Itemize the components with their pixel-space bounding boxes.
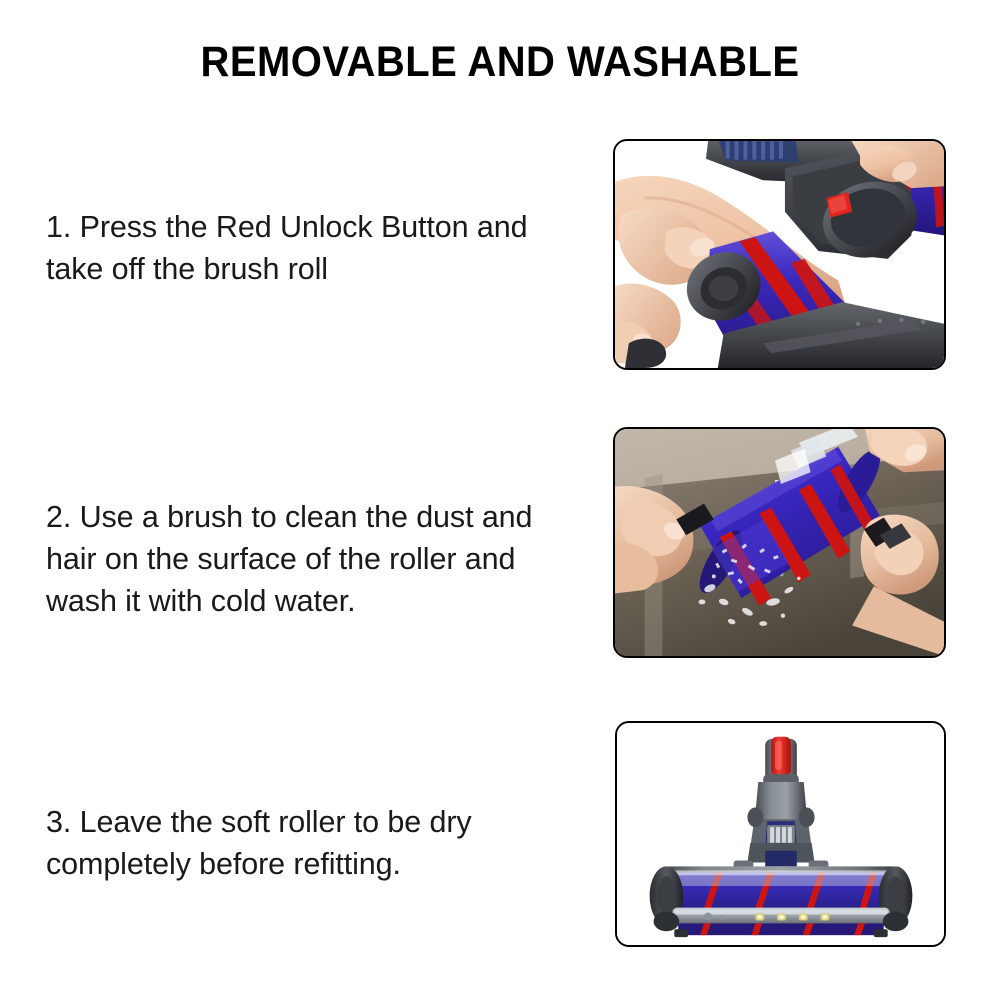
page-title-text: REMOVABLE AND WASHABLE	[201, 38, 800, 87]
removing-brush-roll-photo	[613, 139, 946, 370]
step-3-line-1: 3. Leave the soft roller to be dry	[46, 801, 606, 843]
head-endcap-right-bottom	[883, 912, 909, 932]
head-endcap-left-bottom	[654, 912, 680, 932]
neck-pivot-right	[799, 807, 815, 827]
led-bar-dot	[719, 915, 724, 920]
neck-base-duct	[765, 851, 797, 867]
washing-roller-illustration	[615, 429, 944, 656]
step-1-instruction: 1. Press the Red Unlock Button and take …	[46, 206, 606, 290]
head-endcap-left-inner	[658, 876, 676, 915]
head-foot-left	[674, 929, 688, 937]
roller-endcap-left-center	[709, 276, 739, 302]
head-endcap-right-inner	[887, 876, 905, 915]
assembled-cleaner-head-illustration	[617, 723, 944, 945]
led-light-3	[799, 914, 808, 921]
infographic-root: REMOVABLE AND WASHABLE 1. Press the Red …	[0, 0, 1000, 1000]
led-light-1	[755, 914, 764, 921]
washing-roller-photo	[613, 427, 946, 658]
step-1-line-1: 1. Press the Red Unlock Button and	[46, 206, 606, 248]
neck-grille	[767, 825, 795, 845]
cleaner-head-neck	[747, 782, 814, 866]
page-title: REMOVABLE AND WASHABLE	[0, 38, 1000, 87]
step-1-line-2: take off the brush roll	[46, 248, 606, 290]
step-3-line-2: completely before refitting.	[46, 843, 606, 885]
lower-left-plastic-part	[625, 339, 666, 368]
assembled-cleaner-head-photo	[615, 721, 946, 947]
step-3-instruction: 3. Leave the soft roller to be dry compl…	[46, 801, 606, 885]
led-bar-dial	[704, 913, 712, 921]
neck-pivot-left	[747, 807, 763, 827]
red-catch-highlight	[775, 741, 782, 770]
drum-window-highlight	[674, 870, 887, 875]
step-2-line-3: wash it with cold water.	[46, 580, 606, 622]
step-2-line-1: 2. Use a brush to clean the dust and	[46, 496, 606, 538]
step-2-line-2: hair on the surface of the roller and	[46, 538, 606, 580]
led-light-2	[777, 914, 786, 921]
wand-connector	[763, 737, 799, 786]
led-light-4	[821, 914, 830, 921]
step-2-instruction: 2. Use a brush to clean the dust and hai…	[46, 496, 606, 622]
head-foot-right	[874, 929, 888, 937]
removing-brush-roll-illustration	[615, 141, 944, 368]
led-bar	[672, 908, 889, 926]
